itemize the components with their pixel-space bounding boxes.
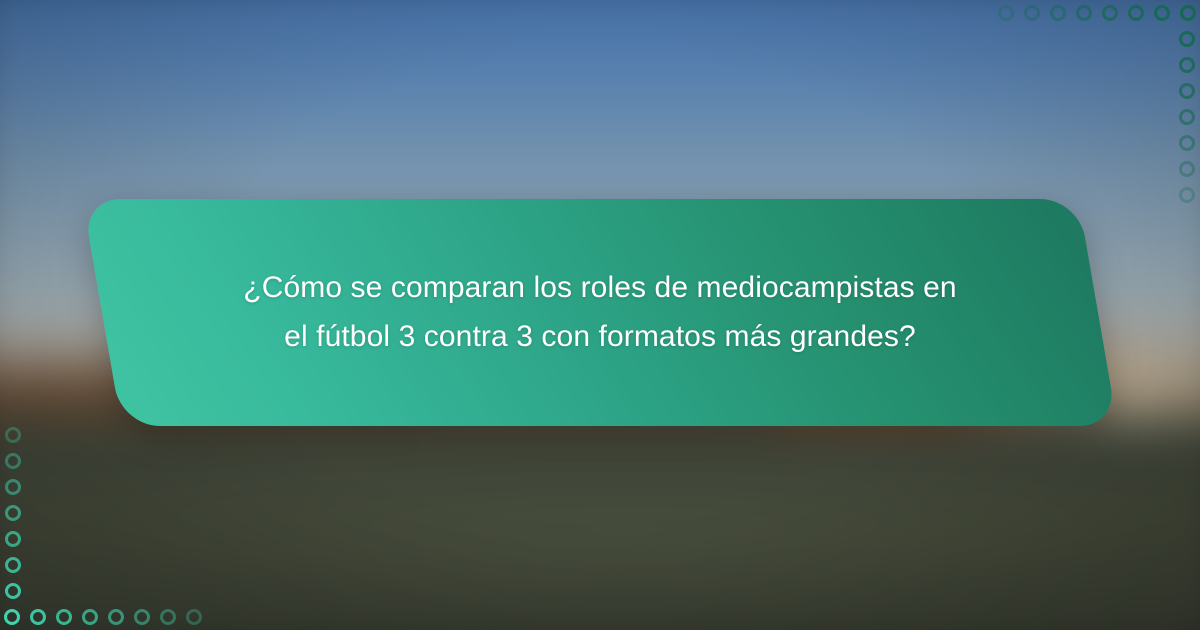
dot-cluster-top-right <box>990 0 1200 205</box>
decorative-dot <box>5 453 21 469</box>
decorative-dot <box>5 531 21 547</box>
decorative-dot <box>1180 5 1196 21</box>
question-text: ¿Cómo se comparan los roles de mediocamp… <box>102 199 1098 426</box>
decorative-dot <box>1179 161 1195 177</box>
decorative-dot <box>1076 5 1092 21</box>
decorative-dot <box>30 609 46 625</box>
decorative-dot <box>1179 135 1195 151</box>
decorative-dot <box>1128 5 1144 21</box>
decorative-dot <box>56 609 72 625</box>
decorative-dot <box>1050 5 1066 21</box>
decorative-dot <box>160 609 176 625</box>
decorative-dot <box>134 609 150 625</box>
decorative-dot <box>1154 5 1170 21</box>
dot-cluster-bottom-left <box>0 425 210 630</box>
decorative-dot <box>5 557 21 573</box>
decorative-dot <box>108 609 124 625</box>
decorative-dot <box>1179 109 1195 125</box>
decorative-dot <box>5 505 21 521</box>
decorative-dot <box>1024 5 1040 21</box>
decorative-dot <box>1179 57 1195 73</box>
decorative-dot <box>5 583 21 599</box>
decorative-dot <box>186 609 202 625</box>
question-card: ¿Cómo se comparan los roles de mediocamp… <box>102 199 1098 426</box>
decorative-dot <box>82 609 98 625</box>
decorative-dot <box>1179 31 1195 47</box>
decorative-dot <box>1179 83 1195 99</box>
decorative-dot <box>1102 5 1118 21</box>
decorative-dot <box>4 609 20 625</box>
decorative-dot <box>1179 187 1195 203</box>
decorative-dot <box>5 427 21 443</box>
decorative-dot <box>998 5 1014 21</box>
decorative-dot <box>5 479 21 495</box>
slide-canvas: ¿Cómo se comparan los roles de mediocamp… <box>0 0 1200 630</box>
